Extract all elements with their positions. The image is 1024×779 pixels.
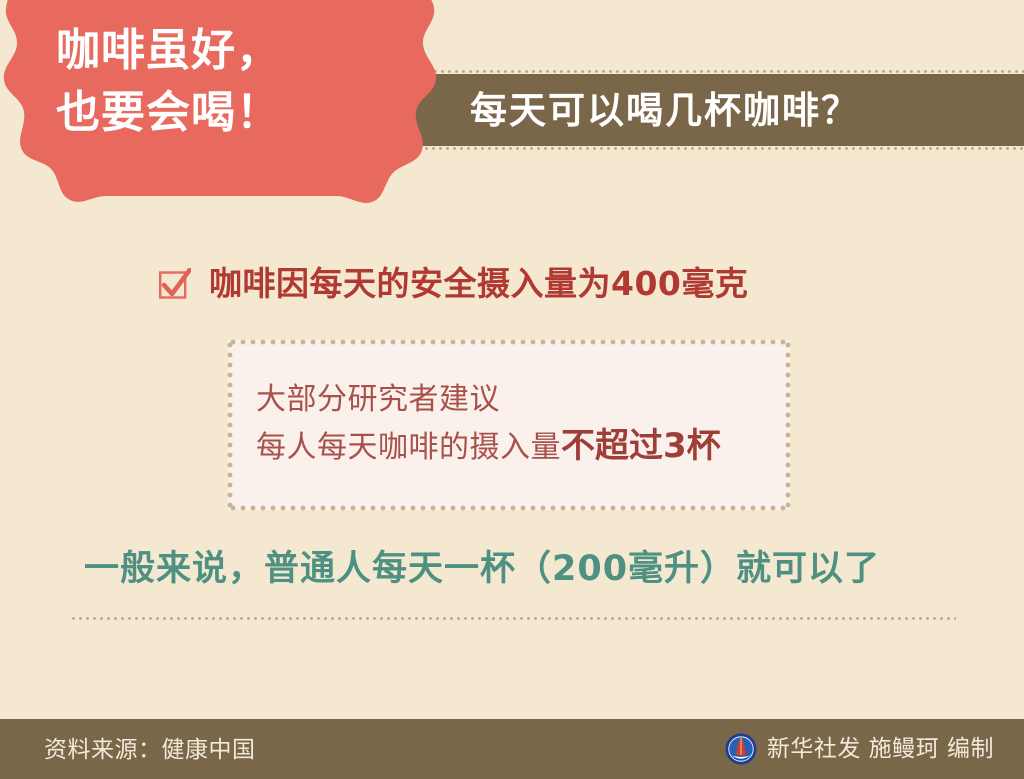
note-box-text: 大部分研究者建议 每人每天咖啡的摄入量不超过3杯 — [256, 376, 780, 471]
checkbox-checked-icon — [158, 268, 191, 301]
note-box-line-2-emphasis: 不超过3杯 — [561, 426, 721, 466]
note-box-line-2: 每人每天咖啡的摄入量不超过3杯 — [256, 423, 780, 471]
section-divider-dotted-rule — [70, 617, 956, 620]
title-badge-text: 咖啡虽好， 也要会喝！ — [56, 20, 396, 144]
title-badge-line-1: 咖啡虽好， — [56, 25, 281, 76]
note-box-line-1: 大部分研究者建议 — [256, 376, 780, 423]
footer-credit-label: 新华社发 施鳗珂 编制 — [767, 733, 994, 765]
highlight-statement: 一般来说，普通人每天一杯（200毫升）就可以了 — [84, 545, 964, 593]
check-item-label: 咖啡因每天的安全摄入量为400毫克 — [209, 266, 748, 302]
header-top-dotted-rule — [390, 70, 1024, 73]
note-box-border-left — [227, 340, 233, 510]
header-title: 每天可以喝几杯咖啡？ — [470, 88, 1024, 134]
infographic-poster: 每天可以喝几杯咖啡？ 咖啡虽好， 也要会喝！ 咖啡因每天的安全摄入量为400毫克… — [0, 0, 1024, 779]
title-badge-line-2: 也要会喝！ — [56, 82, 396, 144]
check-item-row: 咖啡因每天的安全摄入量为400毫克 — [158, 266, 748, 302]
xinhua-agency-logo-icon — [725, 733, 757, 765]
note-box: 大部分研究者建议 每人每天咖啡的摄入量不超过3杯 — [228, 340, 790, 510]
note-box-border-bottom — [228, 505, 790, 511]
footer-source-label: 资料来源：健康中国 — [44, 735, 256, 765]
note-box-line-2-normal: 每人每天咖啡的摄入量 — [256, 430, 561, 465]
note-box-border-top — [228, 339, 790, 345]
note-box-border-right — [785, 340, 791, 510]
header-bottom-dotted-rule — [388, 147, 1024, 150]
footer-credit-group: 新华社发 施鳗珂 编制 — [725, 733, 994, 765]
